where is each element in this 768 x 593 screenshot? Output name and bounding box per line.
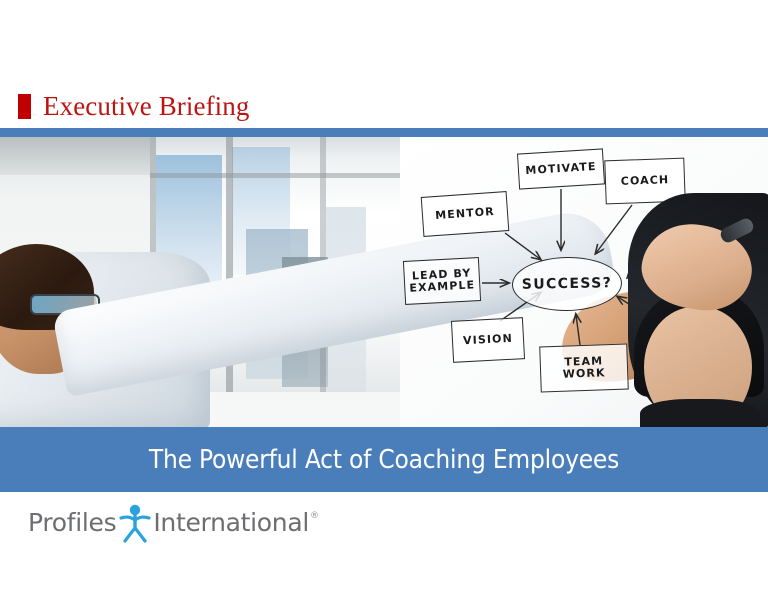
diagram-node-team-work: TEAM WORK [539,343,629,392]
registered-trademark-icon: ® [310,512,319,521]
diagram-node-motivate: MOTIVATE [517,148,605,189]
slide-footer: Profiles International ® [0,492,768,593]
header-accent-bar [18,94,31,119]
hero-image: MOTIVATE COACH MENTOR INSPIRE LEAD BY EX… [0,137,768,427]
diagram-node-success: SUCCESS? [512,256,623,312]
logo-word-profiles: Profiles [28,506,116,540]
diagram-node-lead-by-example: LEAD BY EXAMPLE [403,257,481,305]
hero-photo-canvas: MOTIVATE COACH MENTOR INSPIRE LEAD BY EX… [0,137,768,427]
deck-title: The Powerful Act of Coaching Employees [149,445,619,475]
diagram-node-mentor: MENTOR [421,191,510,237]
slide-header: Executive Briefing [0,0,768,128]
header-divider-rule [0,128,768,137]
marker-person-collar [640,399,760,427]
diagram-node-vision: VISION [451,317,525,363]
page-title: Executive Briefing [43,91,249,121]
logo-word-international: International [153,506,309,540]
person-figure-icon [118,503,152,543]
title-band: The Powerful Act of Coaching Employees [0,427,768,492]
profiles-international-logo[interactable]: Profiles International ® [28,506,319,550]
